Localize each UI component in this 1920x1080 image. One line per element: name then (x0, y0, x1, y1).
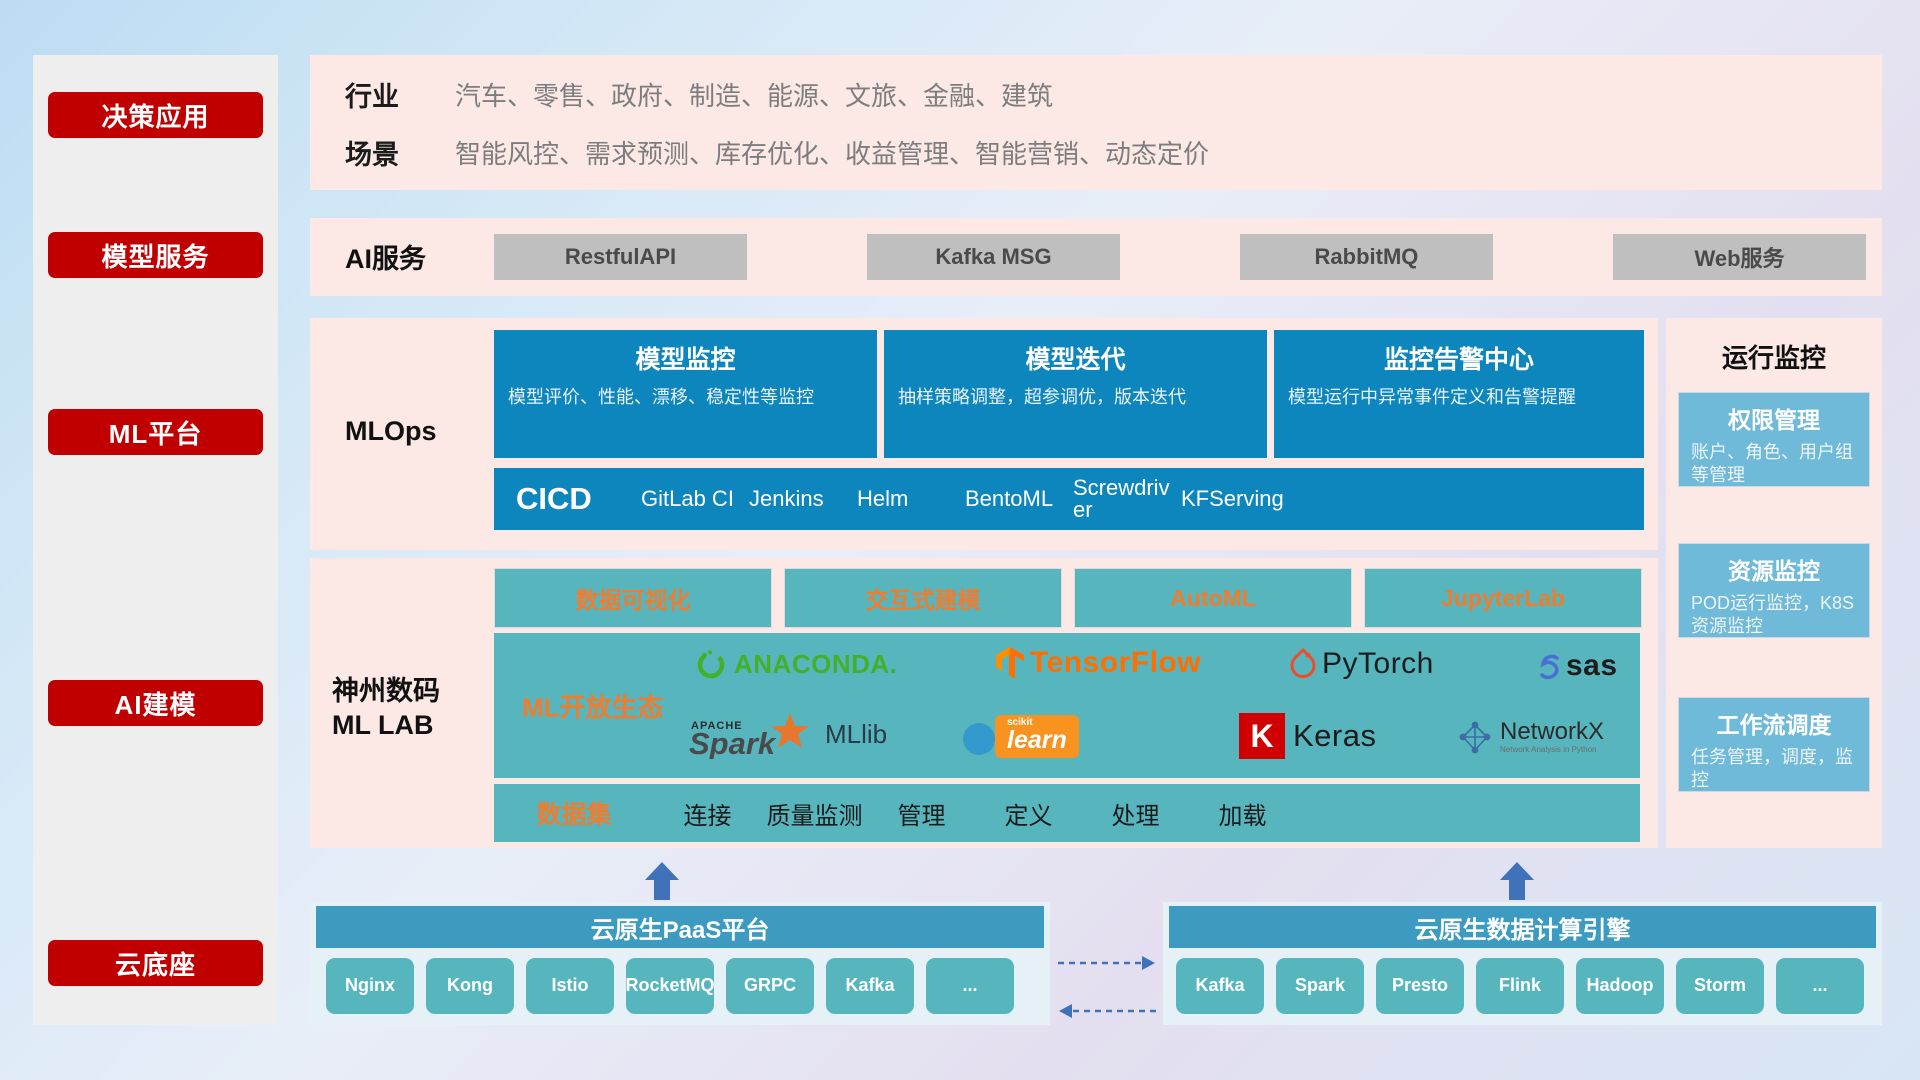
service-chip-kafka-msg[interactable]: Kafka MSG (867, 234, 1120, 280)
tool-label: 交互式建模 (866, 581, 981, 615)
scenario-value: 智能风控、需求预测、库存优化、收益管理、智能营销、动态定价 (455, 134, 1209, 171)
rail-label: ML平台 (109, 414, 203, 451)
chip-label: Hadoop (1587, 976, 1654, 996)
engine-chip-storm[interactable]: Storm (1676, 958, 1764, 1014)
box-title: 资源监控 (1691, 552, 1857, 586)
paas-title: 云原生PaaS平台 (591, 910, 770, 945)
industry-value: 汽车、零售、政府、制造、能源、文旅、金融、建筑 (455, 76, 1053, 113)
engine-chip-kafka[interactable]: Kafka (1176, 958, 1264, 1014)
paas-header: 云原生PaaS平台 (316, 906, 1044, 948)
paas-chip-rocketmq[interactable]: RocketMQ (626, 958, 714, 1014)
chip-label: RabbitMQ (1315, 244, 1419, 270)
cicd-item-bentoml[interactable]: BentoML (965, 488, 1073, 510)
tool-automl[interactable]: AutoML (1074, 568, 1352, 628)
service-chip-web[interactable]: Web服务 (1613, 234, 1866, 280)
card-title: 模型迭代 (898, 340, 1253, 376)
monitor-box-permission[interactable]: 权限管理 账户、角色、用户组等管理 (1678, 392, 1870, 487)
cicd-item-screwdriver[interactable]: Screwdriver (1073, 477, 1181, 521)
sas-label: sas (1566, 649, 1618, 683)
tool-label: 数据可视化 (576, 581, 691, 615)
monitor-box-resource[interactable]: 资源监控 POD运行监控，K8S资源监控 (1678, 543, 1870, 638)
rail-item-model-service[interactable]: 模型服务 (48, 232, 263, 278)
rail-item-ml-platform[interactable]: ML平台 (48, 409, 263, 455)
chip-label: Kafka (1195, 976, 1244, 996)
paas-chip-istio[interactable]: Istio (526, 958, 614, 1014)
monitor-box-workflow[interactable]: 工作流调度 任务管理，调度，监控 (1678, 697, 1870, 792)
dataset-item-process[interactable]: 处理 (1082, 796, 1189, 831)
card-title: 监控告警中心 (1288, 340, 1630, 376)
chip-label: Web服务 (1694, 241, 1784, 273)
tool-interactive-modeling[interactable]: 交互式建模 (784, 568, 1062, 628)
chip-label: Kafka (845, 976, 894, 996)
cicd-item-helm[interactable]: Helm (857, 488, 965, 510)
scenario-key: 场景 (345, 133, 455, 172)
rail-label: 模型服务 (101, 237, 209, 274)
connector-backward (1058, 1003, 1156, 1024)
chip-label: Nginx (345, 976, 395, 996)
box-title: 工作流调度 (1691, 706, 1857, 740)
dataset-label: 数据集 (494, 795, 654, 831)
chip-label: Storm (1694, 976, 1746, 996)
architecture-diagram: 决策应用 模型服务 ML平台 AI建模 云底座 行业 汽车、零售、政府、制造、能… (0, 0, 1920, 1080)
keras-icon: K (1239, 713, 1285, 759)
chip-label: Presto (1392, 976, 1448, 996)
paas-chip-kafka[interactable]: Kafka (826, 958, 914, 1014)
dataset-item-define[interactable]: 定义 (975, 796, 1082, 831)
box-desc: POD运行监控，K8S资源监控 (1691, 592, 1857, 639)
ml-lab-row-label: 神州数码 ML LAB (332, 675, 440, 743)
engine-chip-more[interactable]: ... (1776, 958, 1864, 1014)
card-desc: 模型评价、性能、漂移、稳定性等监控 (508, 385, 863, 409)
anaconda-icon (694, 647, 728, 681)
ml-ecosystem-band: ML开放生态 ANACONDA . TensorFlow (494, 633, 1640, 778)
keras-logo: K Keras (1239, 713, 1376, 759)
tool-label: AutoML (1170, 585, 1256, 612)
chip-label: ... (962, 976, 977, 996)
runtime-monitor-title: 运行监控 (1666, 338, 1882, 375)
ml-ecosystem-label: ML开放生态 (522, 687, 664, 724)
cicd-label: CICD (516, 481, 641, 517)
dataset-item-connect[interactable]: 连接 (654, 796, 761, 831)
engine-chip-hadoop[interactable]: Hadoop (1576, 958, 1664, 1014)
paas-chip-kong[interactable]: Kong (426, 958, 514, 1014)
cicd-row[interactable]: CICD GitLab CI Jenkins Helm BentoML Scre… (494, 468, 1644, 530)
chip-label: GRPC (744, 976, 796, 996)
networkx-label: NetworkX (1500, 720, 1604, 744)
cicd-item-gitlab-ci[interactable]: GitLab CI (641, 488, 749, 510)
industry-key: 行业 (345, 75, 455, 114)
pytorch-icon (1289, 648, 1317, 680)
engine-title: 云原生数据计算引擎 (1415, 910, 1631, 945)
engine-chip-presto[interactable]: Presto (1376, 958, 1464, 1014)
box-desc: 账户、角色、用户组等管理 (1691, 441, 1857, 488)
rail-item-decision-app[interactable]: 决策应用 (48, 92, 263, 138)
dataset-item-quality[interactable]: 质量监测 (761, 796, 868, 831)
rail-item-cloud-base[interactable]: 云底座 (48, 940, 263, 986)
mlops-row-label: MLOps (345, 415, 437, 449)
chip-label: Kong (447, 976, 493, 996)
service-chip-restfulapi[interactable]: RestfulAPI (494, 234, 747, 280)
mlops-card-model-monitor[interactable]: 模型监控 模型评价、性能、漂移、稳定性等监控 (494, 330, 877, 458)
engine-header: 云原生数据计算引擎 (1169, 906, 1876, 948)
industry-row: 行业 汽车、零售、政府、制造、能源、文旅、金融、建筑 (345, 75, 1053, 114)
engine-chip-spark[interactable]: Spark (1276, 958, 1364, 1014)
paas-chip-grpc[interactable]: GRPC (726, 958, 814, 1014)
box-desc: 任务管理，调度，监控 (1691, 746, 1857, 793)
mlops-card-model-iteration[interactable]: 模型迭代 抽样策略调整，超参调优，版本迭代 (884, 330, 1267, 458)
ai-service-row-label: AI服务 (345, 243, 426, 277)
tensorflow-icon (994, 645, 1026, 681)
arrow-up-paas (643, 862, 681, 900)
pytorch-logo: PyTorch (1289, 647, 1434, 681)
dataset-item-load[interactable]: 加载 (1189, 796, 1296, 831)
chip-label: Istio (551, 976, 588, 996)
networkx-logo: NetworkX Network Analysis in Python (1454, 717, 1604, 759)
paas-chip-more[interactable]: ... (926, 958, 1014, 1014)
chip-label: RocketMQ (626, 976, 715, 996)
left-rail (33, 55, 278, 1025)
tensorflow-label: TensorFlow (1030, 646, 1201, 680)
cicd-item-jenkins[interactable]: Jenkins (749, 488, 857, 510)
arrow-up-engine (1498, 862, 1536, 900)
paas-chip-nginx[interactable]: Nginx (326, 958, 414, 1014)
scenario-row: 场景 智能风控、需求预测、库存优化、收益管理、智能营销、动态定价 (345, 133, 1209, 172)
rail-item-ai-modeling[interactable]: AI建模 (48, 680, 263, 726)
rail-label: 云底座 (115, 945, 196, 982)
card-desc: 模型运行中异常事件定义和告警提醒 (1288, 385, 1630, 409)
rail-label: AI建模 (114, 685, 196, 722)
chip-label: Kafka MSG (935, 244, 1051, 270)
service-chip-rabbitmq[interactable]: RabbitMQ (1240, 234, 1493, 280)
tool-data-visualization[interactable]: 数据可视化 (494, 568, 772, 628)
tool-label: JupyterLab (1441, 585, 1565, 612)
pytorch-label: PyTorch (1322, 647, 1434, 681)
tensorflow-logo: TensorFlow (994, 645, 1201, 681)
dataset-item-manage[interactable]: 管理 (868, 796, 975, 831)
rail-label: 决策应用 (101, 97, 209, 134)
dataset-row[interactable]: 数据集 连接 质量监测 管理 定义 处理 加载 (494, 784, 1640, 842)
chip-label: RestfulAPI (565, 244, 676, 270)
networkx-icon (1454, 717, 1496, 759)
svg-text:Spark: Spark (689, 726, 777, 759)
engine-chip-flink[interactable]: Flink (1476, 958, 1564, 1014)
scikit-learn-logo: scikit learn (959, 715, 1079, 758)
box-title: 权限管理 (1691, 401, 1857, 435)
connector-forward (1058, 955, 1156, 976)
spark-mllib-logo: APACHE Spark MLlib (689, 709, 887, 759)
anaconda-logo: ANACONDA . (694, 647, 897, 681)
chip-label: ... (1812, 976, 1827, 996)
spark-icon: APACHE Spark (689, 709, 819, 759)
mllib-label: MLlib (825, 719, 887, 750)
mlops-card-alert-center[interactable]: 监控告警中心 模型运行中异常事件定义和告警提醒 (1274, 330, 1644, 458)
chip-label: Spark (1295, 976, 1345, 996)
card-desc: 抽样策略调整，超参调优，版本迭代 (898, 385, 1253, 409)
sas-icon (1534, 651, 1564, 681)
sas-logo: sas (1534, 649, 1618, 683)
chip-label: Flink (1499, 976, 1541, 996)
card-title: 模型监控 (508, 340, 863, 376)
cicd-item-kfserving[interactable]: KFServing (1181, 488, 1289, 510)
anaconda-label: ANACONDA (734, 649, 890, 680)
tool-jupyterlab[interactable]: JupyterLab (1364, 568, 1642, 628)
keras-label: Keras (1293, 718, 1376, 754)
